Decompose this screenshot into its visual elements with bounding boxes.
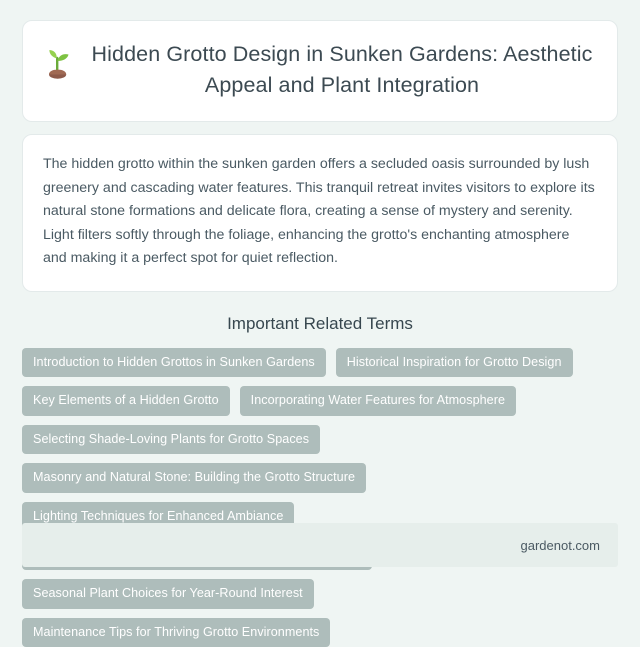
footer-bar: gardenot.com: [22, 523, 618, 567]
related-term-tag[interactable]: Seasonal Plant Choices for Year-Round In…: [22, 579, 314, 609]
summary-card: The hidden grotto within the sunken gard…: [22, 134, 618, 292]
related-term-tag[interactable]: Maintenance Tips for Thriving Grotto Env…: [22, 618, 330, 647]
title-row: Hidden Grotto Design in Sunken Gardens: …: [43, 39, 597, 101]
page-title: Hidden Grotto Design in Sunken Gardens: …: [87, 39, 597, 101]
related-term-tag[interactable]: Masonry and Natural Stone: Building the …: [22, 463, 366, 493]
related-terms-heading: Important Related Terms: [22, 314, 618, 334]
seedling-icon: [43, 45, 73, 79]
related-term-tag[interactable]: Historical Inspiration for Grotto Design: [336, 348, 573, 378]
related-term-tag[interactable]: Key Elements of a Hidden Grotto: [22, 386, 230, 416]
related-term-tag[interactable]: Incorporating Water Features for Atmosph…: [240, 386, 516, 416]
related-term-tag[interactable]: Introduction to Hidden Grottos in Sunken…: [22, 348, 326, 378]
related-terms-list: Introduction to Hidden Grottos in Sunken…: [22, 348, 618, 647]
footer-site-name: gardenot.com: [521, 538, 601, 553]
title-card: Hidden Grotto Design in Sunken Gardens: …: [22, 20, 618, 122]
page-root: Hidden Grotto Design in Sunken Gardens: …: [0, 0, 640, 587]
summary-text: The hidden grotto within the sunken gard…: [43, 153, 597, 271]
related-term-tag[interactable]: Selecting Shade-Loving Plants for Grotto…: [22, 425, 320, 455]
